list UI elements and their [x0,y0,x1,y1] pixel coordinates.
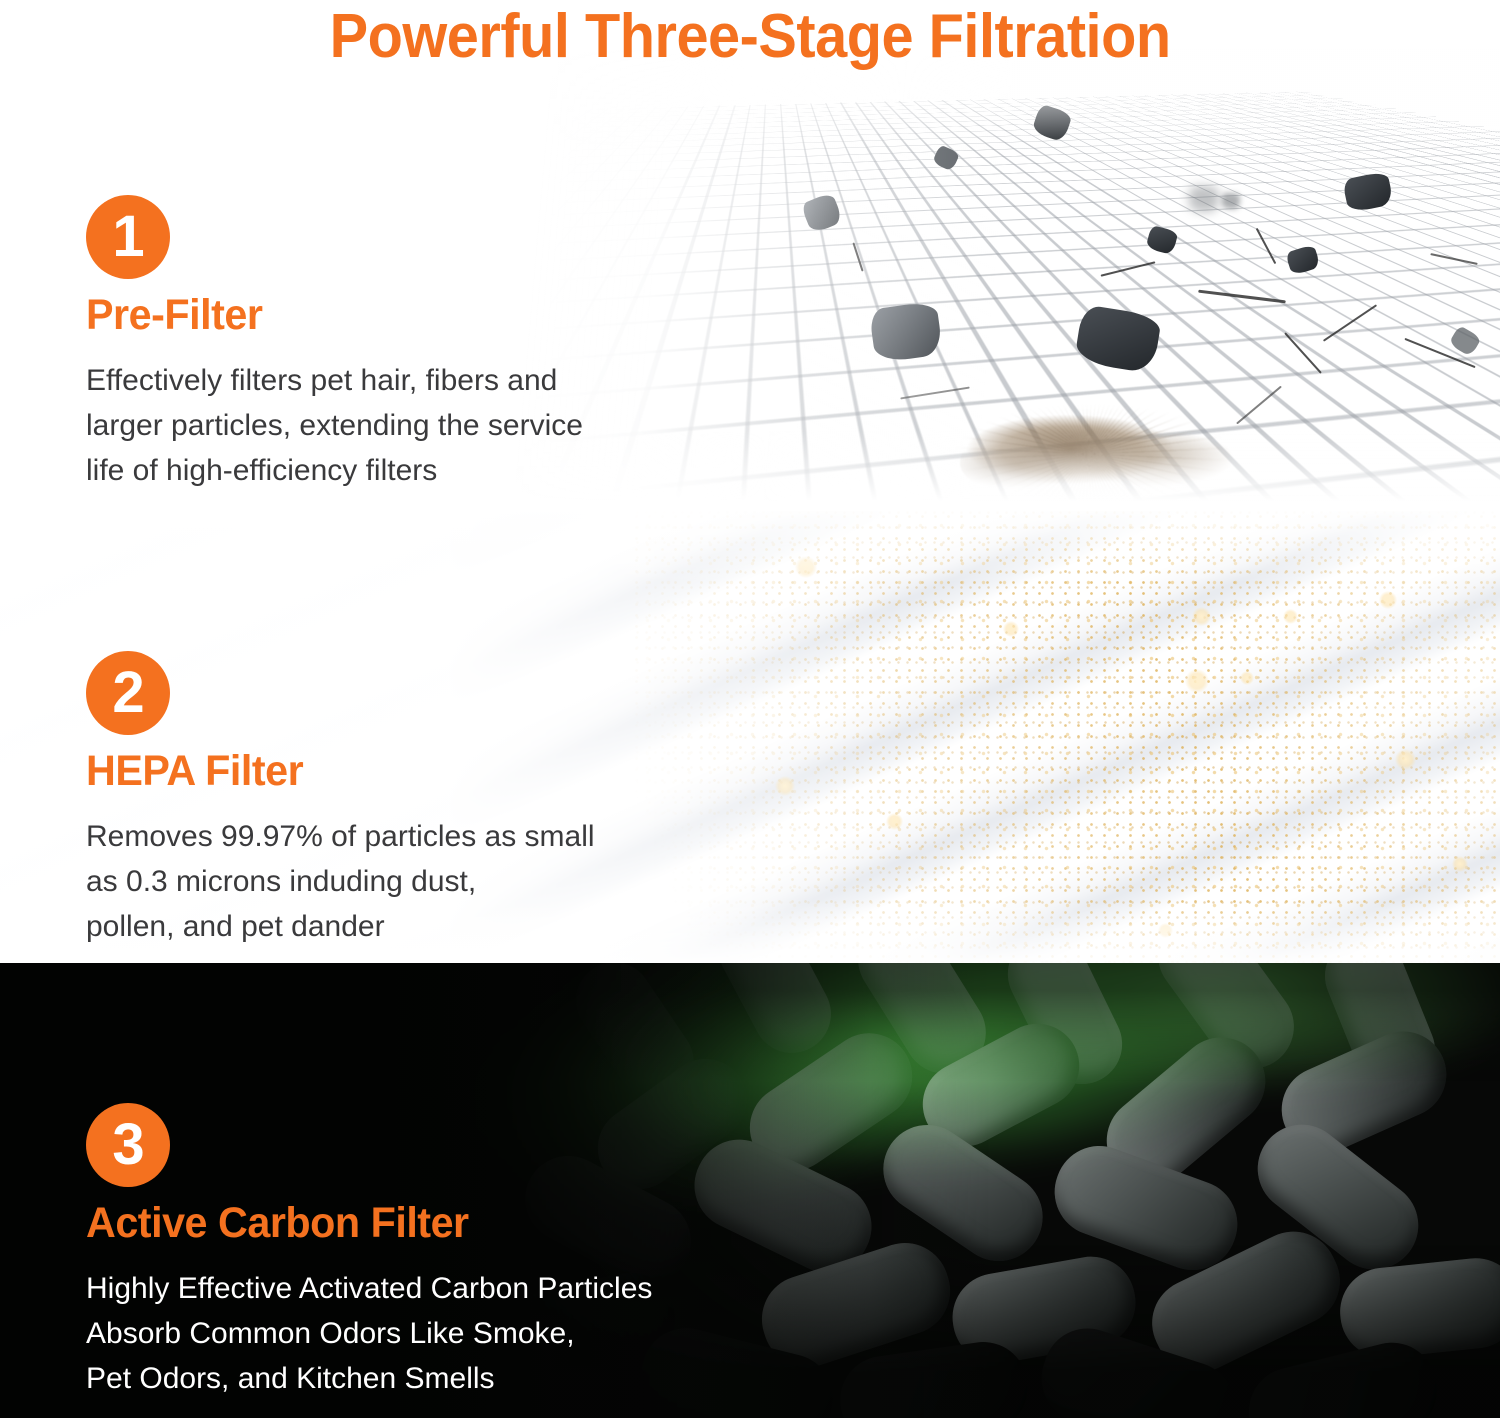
stage-3-heading: Active Carbon Filter [86,1199,630,1248]
stage-1-content: 1 Pre-Filter Effectively filters pet hai… [86,195,583,493]
stage-3-content: 3 Active Carbon Filter Highly Effective … [86,1103,652,1401]
stage-2-heading: HEPA Filter [86,747,574,796]
stage-3-description-line: Highly Effective Activated Carbon Partic… [86,1266,652,1311]
stage-2-description-line: pollen, and pet dander [86,904,595,949]
stage-number-badge-2: 2 [86,651,170,735]
mesh-top-fade [0,0,1500,150]
stage-section-active-carbon-filter: 3 Active Carbon Filter Highly Effective … [0,963,1500,1418]
stage-1-description-line: life of high-efficiency filters [86,448,583,493]
stage-number-badge-1: 1 [86,195,170,279]
stage-number-badge-3: 3 [86,1103,170,1187]
stage-3-description: Highly Effective Activated Carbon Partic… [86,1266,652,1401]
stage-2-description-line: as 0.3 microns induding dust, [86,859,595,904]
stage-1-heading: Pre-Filter [86,291,563,340]
stage-2-description: Removes 99.97% of particles as small as … [86,814,595,949]
stage-1-description-line: Effectively filters pet hair, fibers and [86,358,583,403]
stage-section-hepa-filter: 2 HEPA Filter Removes 99.97% of particle… [0,511,1500,963]
stage-section-pre-filter: 1 Pre-Filter Effectively filters pet hai… [0,0,1500,511]
stage-3-description-line: Absorb Common Odors Like Smoke, [86,1311,652,1356]
stage-2-content: 2 HEPA Filter Removes 99.97% of particle… [86,651,595,949]
stage-1-description-line: larger particles, extending the service [86,403,583,448]
stage-1-description: Effectively filters pet hair, fibers and… [86,358,583,493]
stage-3-description-line: Pet Odors, and Kitchen Smells [86,1356,652,1401]
stage-2-description-line: Removes 99.97% of particles as small [86,814,595,859]
